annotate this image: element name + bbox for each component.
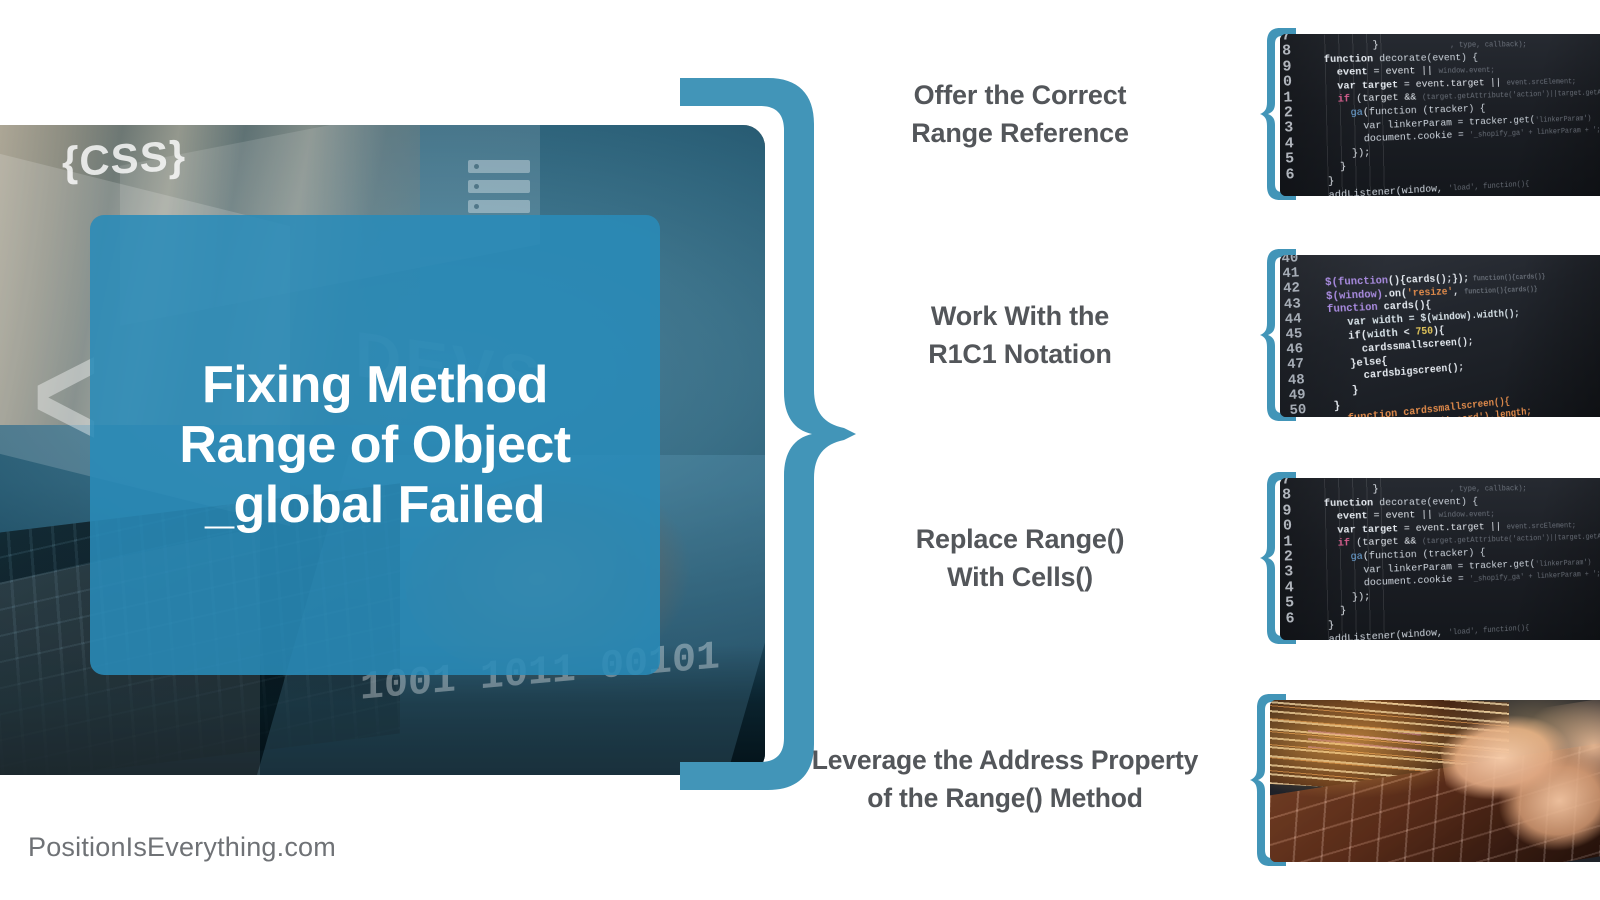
list-item-label: Leverage the Address Property of the Ran… (770, 742, 1250, 817)
list-item-thumbnail-wrap: 7 8 9 0 1 2 3 4 5 6 } , type, callback);… (1260, 24, 1600, 204)
code-gutter-line-numbers: 7 8 9 0 1 2 3 4 5 6 (1281, 478, 1326, 640)
list-item-thumbnail-wrap (1250, 690, 1600, 870)
slide-canvas: {CSS} < DEVS 1001 1011 00101 Fixing Meth… (0, 0, 1600, 900)
steps-list: Offer the Correct Range Reference 7 8 9 … (790, 0, 1600, 900)
code-snippet: $(function(){cards();}); function(){card… (1324, 258, 1600, 417)
list-item[interactable]: Leverage the Address Property of the Ran… (790, 680, 1600, 880)
warm-light-glow (1270, 700, 1600, 862)
server-stack-icon (468, 160, 530, 220)
list-item-thumbnail-wrap: 40 41 42 43 44 45 46 47 48 49 50 51 $(fu… (1260, 245, 1600, 425)
list-item-label: Offer the Correct Range Reference (790, 76, 1260, 153)
page-title: Fixing Method Range of Object _global Fa… (153, 355, 596, 536)
list-item-label: Replace Range() With Cells() (790, 520, 1260, 597)
hands-typing-keyboard-thumbnail (1270, 700, 1600, 862)
code-gutter-line-numbers: 7 8 9 0 1 2 3 4 5 6 (1281, 34, 1326, 196)
code-snippet: } , type, callback); function decorate(e… (1323, 38, 1600, 196)
thumbnail-background (1270, 700, 1600, 862)
title-card: Fixing Method Range of Object _global Fa… (90, 215, 660, 675)
code-editor-decorate-thumbnail: 7 8 9 0 1 2 3 4 5 6 } , type, callback);… (1280, 34, 1600, 196)
chevron-left-icon: < (33, 320, 99, 470)
hero-image: {CSS} < DEVS 1001 1011 00101 Fixing Meth… (0, 125, 765, 775)
css-braces-icon: {CSS} (62, 132, 186, 187)
code-snippet: } , type, callback); function decorate(e… (1323, 482, 1600, 640)
list-item-label: Work With the R1C1 Notation (790, 297, 1260, 374)
jquery-cards-resize-thumbnail: 40 41 42 43 44 45 46 47 48 49 50 51 $(fu… (1280, 255, 1600, 417)
list-item-thumbnail-wrap: 7 8 9 0 1 2 3 4 5 6 } , type, callback);… (1260, 468, 1600, 648)
list-item[interactable]: Work With the R1C1 Notation 40 41 42 43 … (790, 235, 1600, 435)
list-item[interactable]: Offer the Correct Range Reference 7 8 9 … (790, 14, 1600, 214)
code-editor-decorate-thumbnail: 7 8 9 0 1 2 3 4 5 6 } , type, callback);… (1280, 478, 1600, 640)
site-watermark: PositionIsEverything.com (28, 832, 336, 863)
list-item[interactable]: Replace Range() With Cells() 7 8 9 0 1 2… (790, 458, 1600, 658)
